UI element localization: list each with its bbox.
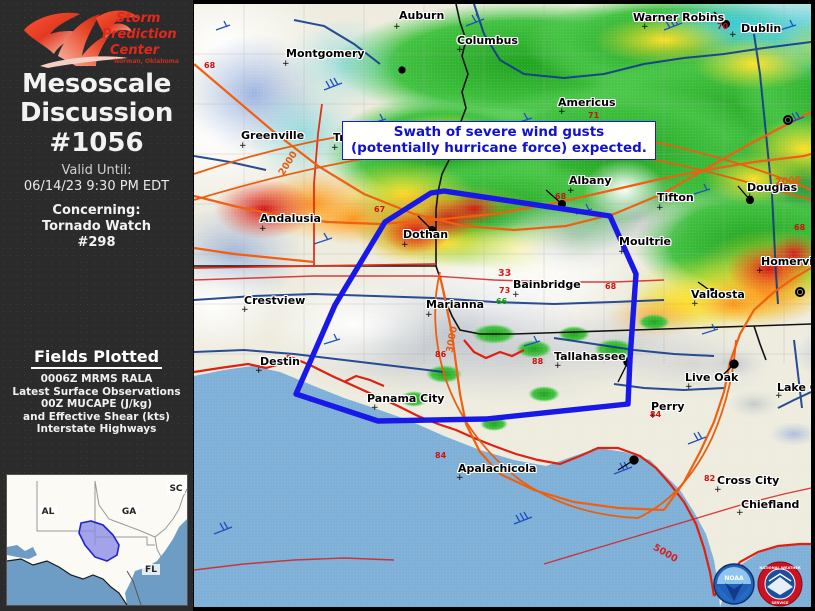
city-label: Greenville [241,129,304,142]
contour-label: 33 [498,268,511,279]
station-observation-value: 68 [605,282,616,291]
city-label: Auburn [399,9,444,22]
concerning-label: Concerning: [0,202,193,219]
city-marker-icon: + [756,267,764,276]
station-observation-value: 68 [794,223,805,232]
city-marker-icon: + [691,300,699,309]
sidebar-panel: Storm Prediction Center Norman, Oklahoma… [0,0,193,611]
logo-line4: Norman, Oklahoma [114,58,179,65]
city-marker-icon: + [331,144,339,153]
valid-until-value: 06/14/23 9:30 PM EDT [0,179,193,195]
discussion-number: #1056 [0,128,193,158]
annotation-line-2: (potentially hurricane force) expected. [351,140,647,156]
city-marker-icon: + [456,474,464,483]
fields-plotted-heading: Fields Plotted [31,348,162,369]
logo-line3: Center [110,43,161,58]
city-label: Valdosta [691,288,745,301]
city-label: Cross City [717,474,779,487]
locator-state-label: SC [169,484,182,494]
fields-plotted-item: and Effective Shear (kts) [0,411,193,424]
station-observation-value: 70 [717,22,728,31]
city-marker-icon: + [393,23,401,32]
city-marker-icon: + [746,193,754,202]
city-marker-icon: + [775,392,783,401]
station-observation-value: 67 [374,205,385,214]
city-marker-icon: + [259,225,267,234]
station-observation-value: 66 [496,297,507,306]
mesoscale-discussion-page: Storm Prediction Center Norman, Oklahoma… [0,0,815,611]
annotation-line-1: Swath of severe wind gusts [351,124,647,140]
city-label: Tallahassee [554,350,626,363]
city-marker-icon: + [456,46,464,55]
noaa-logo: NOAA [713,563,755,605]
spc-logo: Storm Prediction Center Norman, Oklahoma [18,4,186,72]
city-label: Marianna [426,298,484,311]
station-observation-value: 73 [499,286,510,295]
city-label: Albany [569,174,612,187]
city-label: Columbus [457,34,518,47]
title-block: Mesoscale Discussion #1056 Valid Until: … [0,70,193,251]
city-marker-icon: + [641,23,649,32]
city-marker-icon: + [656,204,664,213]
svg-text:SERVICE: SERVICE [771,601,789,605]
city-marker-icon: + [241,306,249,315]
city-marker-icon: + [425,311,433,320]
station-observation-value: 86 [435,350,446,359]
station-observation-value: 84 [650,410,661,419]
locator-state-label: FL [145,565,157,575]
nws-logo: NATIONAL WEATHER SERVICE [757,561,803,607]
noaa-logo-text: NOAA [724,575,744,582]
city-label: Crestview [244,294,305,307]
city-marker-icon: + [714,486,722,495]
logo-line1: Storm [116,11,160,26]
city-label: Live Oak [685,371,738,384]
fields-plotted-list: 0006Z MRMS RALALatest Surface Observatio… [0,373,193,436]
city-marker-icon: + [567,187,575,196]
city-marker-icon: + [255,367,263,376]
station-observation-value: 88 [532,357,543,366]
fields-plotted-item: Interstate Highways [0,423,193,436]
city-marker-icon: + [401,241,409,250]
station-observation-value: 71 [588,111,599,120]
city-label: Dothan [403,228,448,241]
page-title-line1: Mesoscale [0,70,193,99]
city-marker-icon: + [554,362,562,371]
city-label: Chiefland [741,498,799,511]
city-marker-icon: + [558,108,566,117]
page-title-line2: Discussion [0,99,193,128]
station-observation-value: 68 [555,192,566,201]
city-marker-icon: + [282,60,290,69]
fields-plotted-block: Fields Plotted 0006Z MRMS RALALatest Sur… [0,347,193,436]
city-label: Dublin [741,22,781,35]
city-marker-icon: + [729,31,737,40]
city-label: Americus [558,96,616,109]
city-marker-icon: + [512,291,520,300]
city-marker-icon: + [618,248,626,257]
city-marker-icon: + [685,383,693,392]
city-label: Montgomery [286,47,365,60]
city-marker-icon: + [736,509,744,518]
city-label: Andalusia [260,212,321,225]
locator-map: ALGAFLSC [6,474,188,606]
radar-map[interactable]: Auburn+Columbus+Warner Robins+Dublin+Mon… [193,3,812,608]
fields-plotted-item: 0006Z MRMS RALA [0,373,193,386]
city-label: Homerville [761,255,812,268]
contour-label: 2000 [775,175,802,188]
city-label: Apalachicola [458,462,536,475]
locator-state-label: GA [122,507,136,517]
city-label: Moultrie [619,235,671,248]
fields-plotted-item: Latest Surface Observations [0,386,193,399]
city-label: Bainbridge [513,278,581,291]
nws-logo-text: NATIONAL WEATHER [759,566,801,570]
concerning-value-watch: Tornado Watch [0,219,193,235]
city-label: Panama City [367,392,444,405]
fields-plotted-item: 00Z MUCAPE (J/kg) [0,398,193,411]
city-marker-icon: + [371,404,379,413]
valid-until-label: Valid Until: [0,162,193,179]
city-marker-icon: + [239,142,247,151]
station-observation-value: 68 [204,61,215,70]
station-observation-value: 84 [435,451,446,460]
city-label: Destin [260,355,300,368]
station-observation-value: 82 [704,474,715,483]
annotation-callout: Swath of severe wind gusts (potentially … [342,121,656,160]
concerning-value-number: #298 [0,235,193,251]
logo-line2: Prediction [102,27,177,42]
locator-state-label: AL [42,507,55,517]
